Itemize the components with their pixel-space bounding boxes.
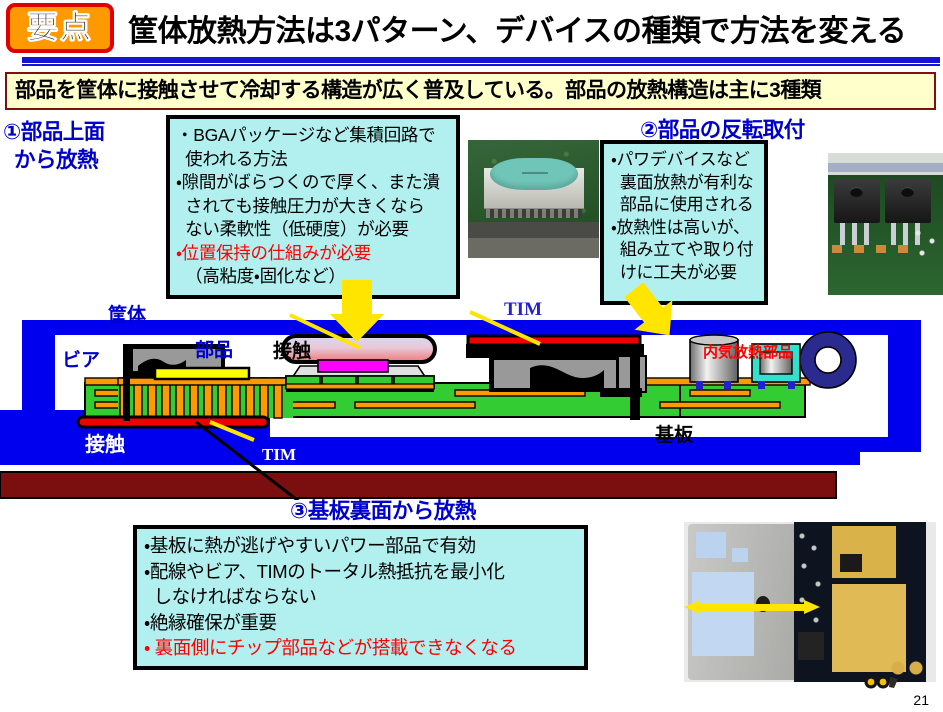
label-tim-top: TIM bbox=[504, 299, 542, 321]
subtitle-text: 部品を筐体に接触させて冷却する構造が広く普及している。部品の放熱構造は主に3種類 bbox=[7, 74, 934, 108]
label-chassis: 筐体 bbox=[108, 300, 146, 327]
callout-box-3: ・基板に熱が逃げやすいパワー部品で有効・配線やビア、TIMのトータル熱抵抗を最小… bbox=[133, 525, 588, 670]
section-heading-1: ①部品上面 から放熱 bbox=[3, 118, 105, 174]
label-tim-bottom: TIM bbox=[262, 445, 296, 465]
label-inner-air: 内気放熱部品 bbox=[703, 341, 793, 362]
page-title: 筐体放熱方法は3パターン、デバイスの種類で方法を変える bbox=[128, 6, 906, 50]
label-contact-bottom: 接触 bbox=[85, 428, 125, 457]
bullet-line: ない柔軟性（低硬度）が必要 bbox=[176, 218, 452, 242]
bullet-line: けに工夫が必要 bbox=[611, 262, 760, 285]
photo-double-arrow-icon bbox=[684, 592, 824, 622]
power-transistors-photo bbox=[828, 135, 943, 295]
bullet-line: 裏面放熱が有利な bbox=[611, 172, 760, 195]
bullet-line: ・隙間がばらつくので厚く、また潰 bbox=[176, 171, 452, 195]
base-plate bbox=[0, 472, 836, 498]
bullet-line: ・放熱性は高いが、 bbox=[611, 217, 760, 240]
bga-package-with-tim-photo bbox=[468, 140, 599, 258]
bullet-line: ・配線やビア、TIMのトータル熱抵抗を最小化 bbox=[144, 559, 580, 585]
header-rule bbox=[22, 57, 940, 63]
bullet-line: 組み立てや取り付 bbox=[611, 239, 760, 262]
cross-section-diagram bbox=[0, 300, 943, 500]
bullet-line: ・パワデバイスなど bbox=[611, 149, 760, 172]
bullet-line: （高粘度・固化など） bbox=[176, 265, 452, 289]
bullet-line: されても接触圧力が大きくなら bbox=[176, 195, 452, 219]
page-number: 21 bbox=[913, 692, 929, 708]
bullet-line: ・絶縁確保が重要 bbox=[144, 610, 580, 636]
bullet-line: ・BGAパッケージなど集積回路で bbox=[176, 124, 452, 148]
label-board: 基板 bbox=[655, 420, 693, 447]
header-rule-thin bbox=[22, 64, 940, 66]
label-contact-top: 接触 bbox=[273, 336, 311, 363]
bullet-line: ・位置保持の仕組みが必要 bbox=[176, 242, 452, 266]
tim-bottom-layer bbox=[78, 417, 268, 427]
key-point-badge: 要点 bbox=[6, 3, 114, 53]
bullet-line: 使われる方法 bbox=[176, 148, 452, 172]
chassis-and-pcb-photo bbox=[684, 522, 936, 682]
key-point-badge-label: 要点 bbox=[10, 7, 110, 49]
via-field bbox=[118, 378, 293, 418]
slide-header: 要点 筐体放熱方法は3パターン、デバイスの種類で方法を変える bbox=[0, 0, 943, 58]
label-via: ビア bbox=[62, 345, 100, 372]
label-component: 部品 bbox=[195, 335, 233, 362]
corner-logo-icon bbox=[863, 674, 899, 690]
bullet-line: ・基板に熱が逃げやすいパワー部品で有効 bbox=[144, 533, 580, 559]
subtitle-band: 部品を筐体に接触させて冷却する構造が広く普及している。部品の放熱構造は主に3種類 bbox=[5, 72, 936, 110]
bullet-line: しなければならない bbox=[144, 584, 580, 610]
callout-box-2: ・パワデバイスなど 裏面放熱が有利な 部品に使用される・放熱性は高いが、 組み立… bbox=[600, 140, 768, 305]
bullet-line: 部品に使用される bbox=[611, 194, 760, 217]
callout-box-1: ・BGAパッケージなど集積回路で 使われる方法・隙間がばらつくので厚く、また潰 … bbox=[166, 115, 460, 299]
slide-root: 要点 筐体放熱方法は3パターン、デバイスの種類で方法を変える 部品を筐体に接触さ… bbox=[0, 0, 943, 712]
bullet-line: ・ 裏面側にチップ部品などが搭載できなくなる bbox=[144, 635, 580, 661]
